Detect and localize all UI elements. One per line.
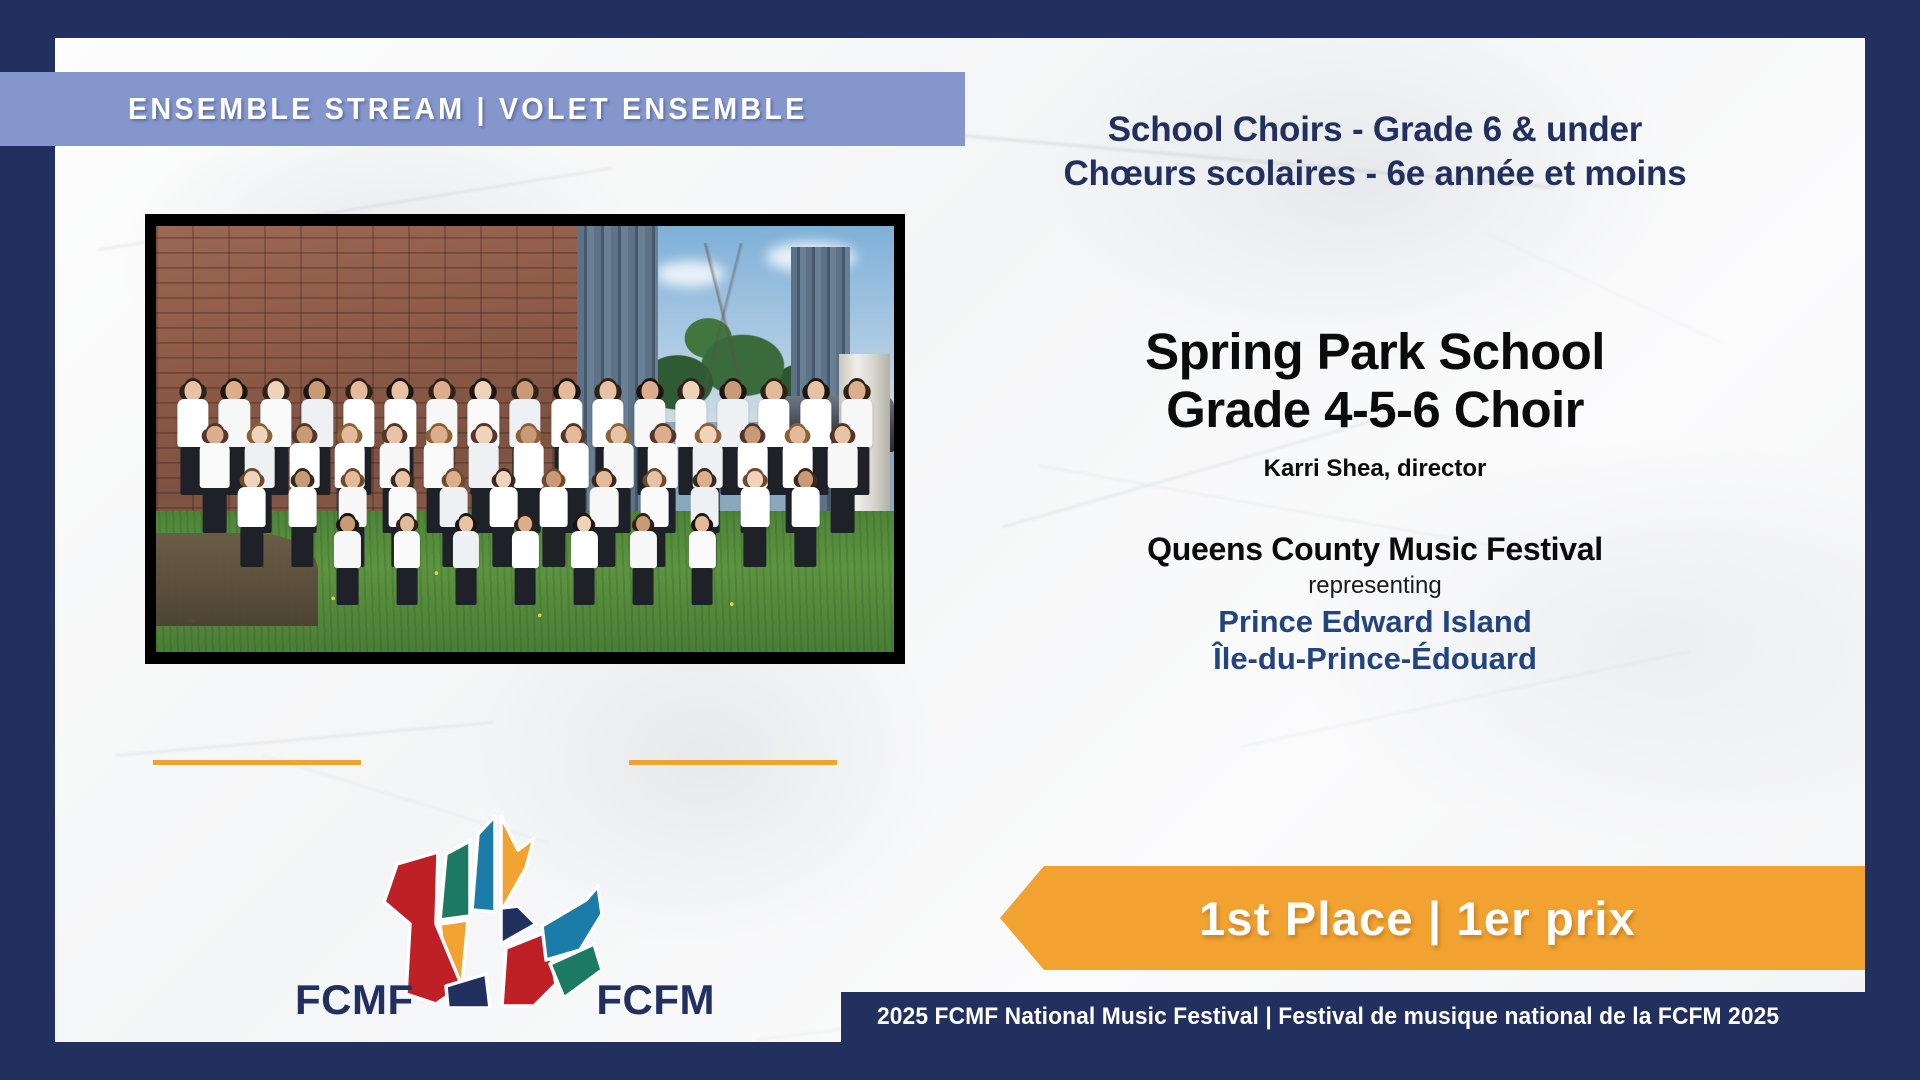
category-line-french: Chœurs scolaires - 6e année et moins (995, 152, 1755, 196)
logo-word-fcmf: FCMF (295, 976, 414, 1024)
province-french: Île-du-Prince-Édouard (935, 641, 1815, 677)
director-name: Karri Shea, director (935, 455, 1815, 483)
category-line-english: School Choirs - Grade 6 & under (995, 108, 1755, 152)
award-ribbon: 1st Place | 1er prix (1000, 866, 1865, 970)
choir-member (539, 471, 570, 571)
marble-vein (116, 721, 495, 756)
choir-photo-frame (145, 214, 905, 664)
choir-member (510, 516, 539, 608)
representing-label: representing (935, 572, 1815, 600)
footer-text: 2025 FCMF National Music Festival | Fest… (877, 1003, 1779, 1031)
school-name-line2: Grade 4-5-6 Choir (935, 381, 1815, 439)
choir-member (569, 516, 598, 608)
category-heading: School Choirs - Grade 6 & under Chœurs s… (995, 108, 1755, 196)
choir-member (392, 516, 421, 608)
choir-member (199, 426, 232, 538)
performer-details: Spring Park School Grade 4-5-6 Choir Kar… (935, 323, 1815, 677)
logo-rule-left (153, 760, 361, 765)
choir-member (790, 471, 821, 571)
choir-member (826, 426, 859, 538)
marble-card: School Choirs - Grade 6 & under Chœurs s… (55, 38, 1865, 1042)
stream-label: ENSEMBLE STREAM | VOLET ENSEMBLE (128, 91, 807, 127)
school-name-line1: Spring Park School (935, 323, 1815, 381)
tree-branches (658, 243, 791, 388)
choir-member (740, 471, 771, 571)
stream-ribbon: ENSEMBLE STREAM | VOLET ENSEMBLE (0, 72, 965, 146)
logo-rule-right (629, 760, 837, 765)
choir-member (451, 516, 480, 608)
award-label: 1st Place | 1er prix (1199, 891, 1666, 946)
choir-member (237, 471, 268, 571)
choir-member (333, 516, 362, 608)
logo-word-fcfm: FCFM (596, 976, 715, 1024)
school-name: Spring Park School Grade 4-5-6 Choir (935, 323, 1815, 439)
ribbon-notch-icon (917, 72, 965, 146)
festival-name: Queens County Music Festival (935, 531, 1815, 568)
fcmf-logo: FCMF FCFM (145, 808, 845, 1042)
choir-member (628, 516, 657, 608)
poster-root: School Choirs - Grade 6 & under Chœurs s… (0, 0, 1920, 1080)
choir-photo (156, 226, 894, 652)
footer-bar: 2025 FCMF National Music Festival | Fest… (841, 992, 1865, 1042)
choir-member (287, 471, 318, 571)
choir-member (687, 516, 716, 608)
province-english: Prince Edward Island (935, 604, 1815, 640)
